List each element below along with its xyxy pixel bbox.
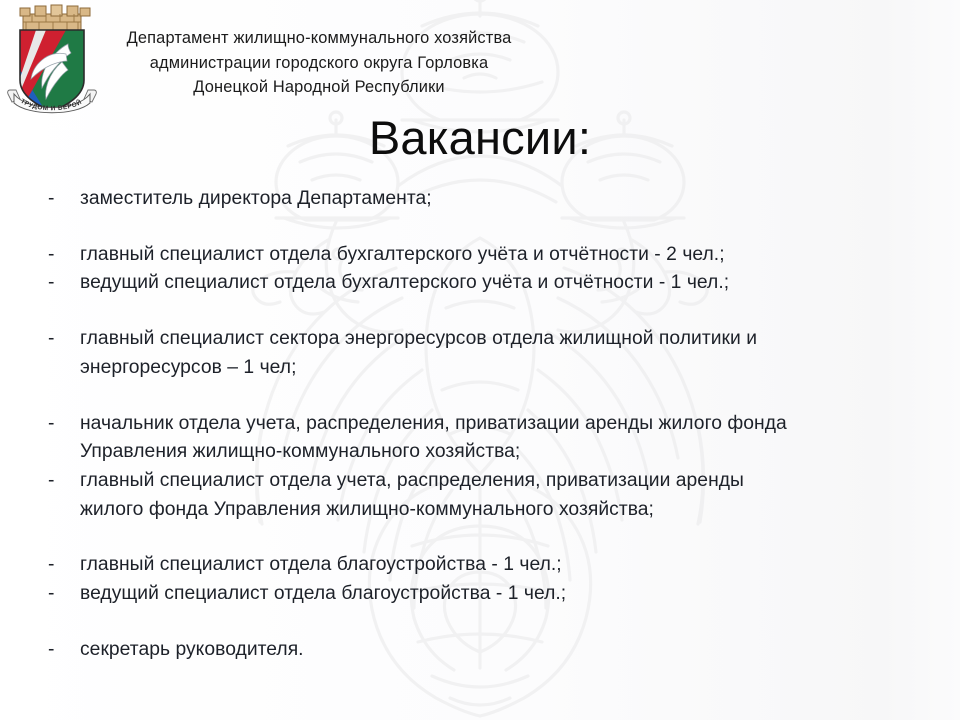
bullet-dash: -	[48, 467, 54, 496]
vacancy-text: начальник отдела учета, распределения, п…	[80, 410, 960, 439]
vacancy-text: заместитель директора Департамента;	[80, 185, 960, 214]
bullet-dash: -	[48, 241, 54, 270]
vacancy-item: -главный специалист отдела учета, распре…	[0, 467, 960, 524]
vacancy-group: -главный специалист отдела благоустройст…	[0, 551, 960, 608]
bullet-dash: -	[48, 636, 54, 665]
vacancy-item: -главный специалист отдела бухгалтерског…	[0, 241, 960, 270]
vacancy-text-continuation: жилого фонда Управления жилищно-коммунал…	[80, 496, 960, 525]
vacancy-group: -главный специалист сектора энергоресурс…	[0, 325, 960, 382]
vacancy-text: секретарь руководителя.	[80, 636, 960, 665]
org-line-1: Департамент жилищно-коммунального хозяйс…	[84, 26, 554, 51]
org-line-3: Донецкой Народной Республики	[84, 75, 554, 100]
vacancy-group: -заместитель директора Департамента;	[0, 185, 960, 214]
vacancy-text-continuation: Управления жилищно-коммунального хозяйст…	[80, 438, 960, 467]
vacancy-list: -заместитель директора Департамента;-гла…	[0, 185, 960, 664]
vacancy-item: -главный специалист отдела благоустройст…	[0, 551, 960, 580]
vacancy-text: главный специалист отдела бухгалтерского…	[80, 241, 960, 270]
vacancy-item: -секретарь руководителя.	[0, 636, 960, 665]
mural-crown	[20, 5, 90, 30]
bullet-dash: -	[48, 410, 54, 439]
page-title: Вакансии:	[0, 110, 960, 166]
slide-canvas: ТРУДОМ И ВЕРОЙ Департамент жилищно-комму…	[0, 0, 960, 720]
vacancy-group: -секретарь руководителя.	[0, 636, 960, 665]
bullet-dash: -	[48, 551, 54, 580]
bullet-dash: -	[48, 269, 54, 298]
vacancy-text: ведущий специалист отдела благоустройств…	[80, 580, 960, 609]
slide-header: ТРУДОМ И ВЕРОЙ Департамент жилищно-комму…	[0, 0, 960, 118]
vacancy-text: ведущий специалист отдела бухгалтерского…	[80, 269, 960, 298]
bullet-dash: -	[48, 325, 54, 354]
vacancy-item: -ведущий специалист отдела благоустройст…	[0, 580, 960, 609]
bullet-dash: -	[48, 185, 54, 214]
vacancy-item: -заместитель директора Департамента;	[0, 185, 960, 214]
vacancy-item: -начальник отдела учета, распределения, …	[0, 410, 960, 467]
bullet-dash: -	[48, 580, 54, 609]
vacancy-group: -главный специалист отдела бухгалтерског…	[0, 241, 960, 298]
vacancy-text: главный специалист отдела благоустройств…	[80, 551, 960, 580]
vacancy-group: -начальник отдела учета, распределения, …	[0, 410, 960, 525]
vacancy-item: -ведущий специалист отдела бухгалтерског…	[0, 269, 960, 298]
organization-title: Департамент жилищно-коммунального хозяйс…	[84, 26, 554, 100]
vacancy-item: -главный специалист сектора энергоресурс…	[0, 325, 960, 382]
vacancy-text-continuation: энергоресурсов – 1 чел;	[80, 354, 960, 383]
vacancy-text: главный специалист отдела учета, распред…	[80, 467, 960, 496]
vacancy-text: главный специалист сектора энергоресурсо…	[80, 325, 960, 354]
org-line-2: администрации городского округа Горловка	[84, 51, 554, 76]
